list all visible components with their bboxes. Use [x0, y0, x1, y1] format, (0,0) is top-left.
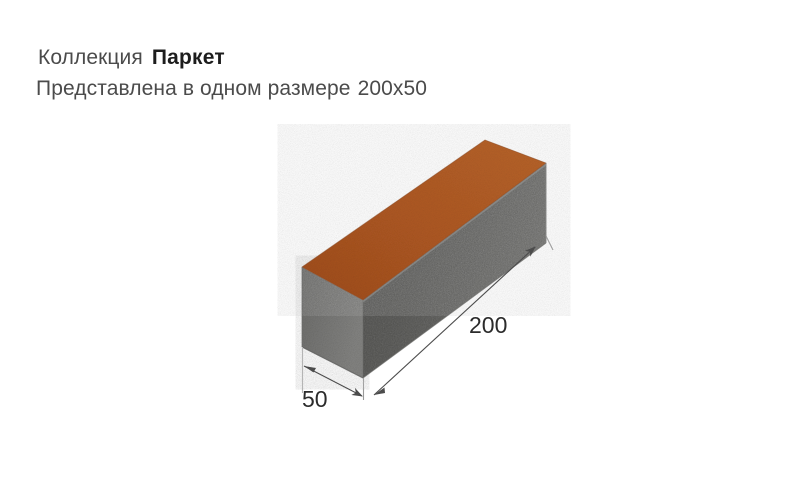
paving-block [302, 140, 546, 378]
product-illustration: 50 200 [0, 0, 800, 496]
dimension-50-label: 50 [302, 386, 328, 412]
dimension-200-arrow-start [374, 388, 385, 396]
dimension-200-label: 200 [469, 312, 507, 338]
page-root: КоллекцияПаркет Представлена в одном раз… [0, 0, 800, 496]
